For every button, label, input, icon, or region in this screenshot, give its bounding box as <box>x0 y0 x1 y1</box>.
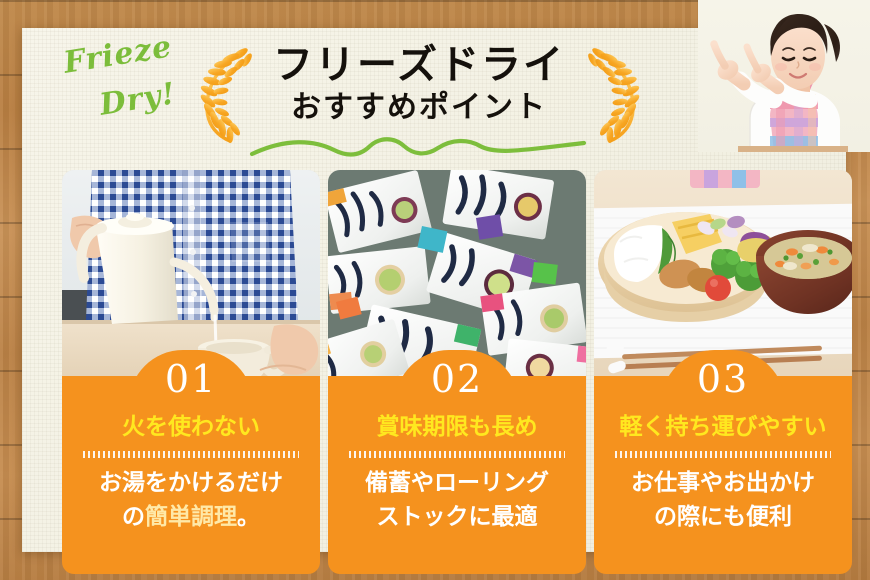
card-02-body: 備蓄やローリング ストックに最適 <box>328 466 586 534</box>
frieze-script-line1: Frieze <box>61 29 174 81</box>
page-title-main: フリーズドライ <box>244 42 594 88</box>
card-03[interactable]: 03 軽く持ち運びやすい お仕事やお出かけ の際にも便利 <box>594 170 852 574</box>
frieze-dry-script: Frieze Dry! <box>58 38 208 138</box>
header: Frieze Dry! <box>22 28 846 146</box>
card-01-lead: 火を使わない <box>62 412 320 442</box>
woman-pointing-photo <box>698 0 870 152</box>
card-03-body-line2: の際にも便利 <box>594 500 852 534</box>
card-03-body: お仕事やお出かけ の際にも便利 <box>594 466 852 534</box>
card-03-divider <box>615 451 831 458</box>
card-03-caption: 03 軽く持ち運びやすい お仕事やお出かけ の際にも便利 <box>594 376 852 574</box>
card-01-body-line1: お湯をかけるだけ <box>62 466 320 500</box>
card-01-caption: 01 火を使わない お湯をかけるだけ の簡単調理。 <box>62 376 320 574</box>
card-01-body-prefix: の <box>122 503 145 530</box>
card-02-caption: 02 賞味期限も長め 備蓄やローリング ストックに最適 <box>328 376 586 574</box>
cream-panel: Frieze Dry! <box>22 28 846 552</box>
card-01-body-suffix: 。 <box>237 503 260 530</box>
card-02-divider <box>349 451 565 458</box>
card-03-lead: 軽く持ち運びやすい <box>594 412 852 442</box>
card-01[interactable]: 01 火を使わない お湯をかけるだけ の簡単調理。 <box>62 170 320 574</box>
page-title-sub: おすすめポイント <box>244 90 594 126</box>
banner-stage: Frieze Dry! <box>0 0 870 580</box>
card-01-divider <box>83 451 299 458</box>
card-03-body-line1: お仕事やお出かけ <box>594 466 852 500</box>
card-01-body-line2: の簡単調理。 <box>62 500 320 534</box>
card-02-body-line2: ストックに最適 <box>328 500 586 534</box>
card-02[interactable]: 02 賞味期限も長め 備蓄やローリング ストックに最適 <box>328 170 586 574</box>
title-block: フリーズドライ おすすめポイント <box>244 42 594 126</box>
card-01-body-highlight: 簡単調理 <box>145 503 237 530</box>
card-02-number: 02 <box>328 360 586 398</box>
card-03-number: 03 <box>594 360 852 398</box>
card-01-body: お湯をかけるだけ の簡単調理。 <box>62 466 320 534</box>
green-wave-underline-icon <box>248 134 588 160</box>
card-02-lead: 賞味期限も長め <box>328 412 586 442</box>
card-01-number: 01 <box>62 360 320 398</box>
frieze-script-line2: Dry! <box>97 76 178 123</box>
card-02-body-line1: 備蓄やローリング <box>328 466 586 500</box>
